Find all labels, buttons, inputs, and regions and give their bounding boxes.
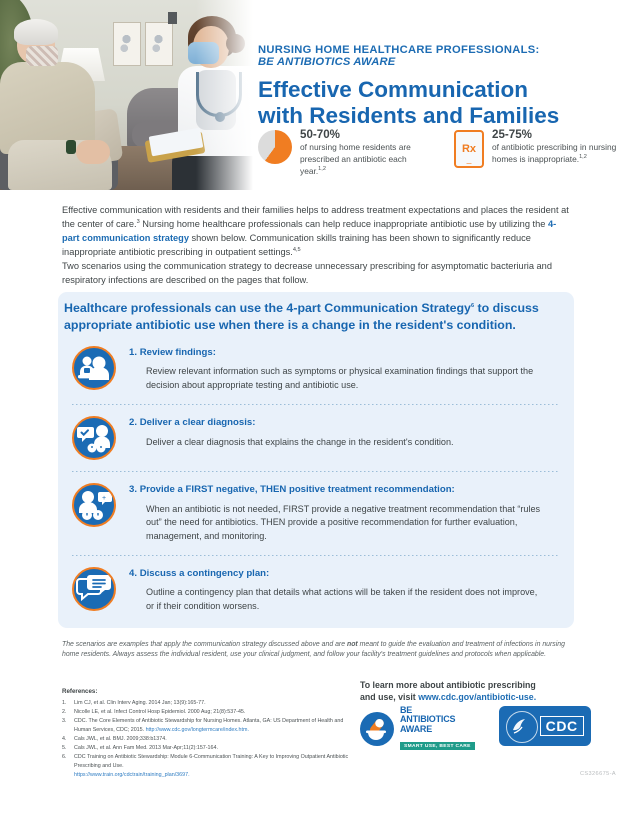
hero-eyebrow-line1: NURSING HOME HEALTHCARE PROFESSIONALS:: [258, 44, 632, 56]
photo-wall-sconce: [168, 12, 177, 24]
page-title: Effective Communication with Residents a…: [258, 77, 632, 129]
step-title-text: Provide a FIRST negative, THEN positive …: [140, 484, 455, 495]
cdc-logo: CDC: [499, 706, 591, 746]
step-title-text: Discuss a contingency plan:: [140, 568, 270, 579]
reference-item: 5.Cals JWL, et al. Ann Fam Med. 2013 Mar…: [62, 744, 350, 753]
panel-heading: Healthcare professionals can use the 4-p…: [64, 300, 544, 334]
reference-number: 2.: [62, 708, 70, 717]
strategy-step-4-title: 4. Discuss a contingency plan:: [129, 568, 544, 580]
cdc-wordmark: CDC: [540, 716, 584, 736]
step-divider-3: [72, 555, 560, 556]
learn-more-prefix: and use, visit: [360, 692, 418, 702]
stat-card-prescribed: 50-70% of nursing home residents are pre…: [258, 128, 428, 178]
strategy-step-2-body: 2. Deliver a clear diagnosis: Deliver a …: [129, 416, 454, 460]
clinician-with-resident-icon: [72, 346, 116, 390]
stat-description-text: of antibiotic prescribing in nursing hom…: [492, 142, 616, 164]
reference-number: 5.: [62, 744, 70, 753]
chat-bubbles-icon: [72, 567, 116, 611]
baa-tagline: SMART USE, BEST CARE: [400, 742, 475, 750]
strategy-step-4-text: Outline a contingency plan that details …: [129, 586, 544, 614]
reference-item: 2.Nicolle LE, et al. Infect Control Hosp…: [62, 708, 350, 717]
disclaimer-text: The scenarios are examples that apply th…: [62, 640, 570, 661]
photo-fade-overlay: [196, 0, 258, 190]
stat-superscript: 1,2: [318, 167, 326, 173]
reference-link[interactable]: https://www.train.org/cdctrain/training_…: [74, 772, 190, 778]
reference-text-body: CDC Training on Antibiotic Stewardship: …: [74, 754, 348, 769]
step-title-text: Deliver a clear diagnosis:: [140, 417, 256, 428]
learn-more-line2: and use, visit www.cdc.gov/antibiotic-us…: [360, 691, 600, 703]
strategy-step-3-text: When an antibiotic is not needed, FIRST …: [129, 503, 544, 544]
disclaimer-part1: The scenarios are examples that apply th…: [62, 641, 347, 648]
strategy-step-3-body: 3. Provide a FIRST negative, THEN positi…: [129, 483, 544, 544]
stat-description-text: of nursing home residents are prescribed…: [300, 142, 411, 176]
para1-part2: Nursing home healthcare professionals ca…: [140, 219, 548, 229]
learn-more-block: To learn more about antibiotic prescribi…: [360, 679, 600, 704]
step-number: 4.: [129, 568, 137, 579]
reference-text: Nicolle LE, et al. Infect Control Hosp E…: [74, 708, 245, 717]
panel-heading-part1: Healthcare professionals can use the 4-p…: [64, 301, 324, 315]
rx-tablet-icon: Rx: [454, 130, 484, 168]
stat-value: 25-75%: [492, 128, 620, 142]
hero-photo: [0, 0, 258, 190]
strategy-step-1-text: Review relevant information such as symp…: [129, 365, 544, 393]
be-antibiotics-aware-wordmark: BE ANTIBIOTICS AWARE SMART USE, BEST CAR…: [400, 706, 475, 752]
strategy-step-4: 4. Discuss a contingency plan: Outline a…: [58, 561, 574, 620]
disclaimer-bold: not: [347, 641, 358, 648]
learn-more-line1: To learn more about antibiotic prescribi…: [360, 679, 600, 691]
photo-resident-watch: [66, 140, 76, 154]
stat-text-inappropriate: 25-75% of antibiotic prescribing in nurs…: [492, 128, 620, 166]
references-heading: References:: [62, 688, 97, 695]
hero-eyebrow-line2: BE ANTIBIOTICS AWARE: [258, 56, 632, 68]
step-number: 2.: [129, 417, 137, 428]
reference-link[interactable]: http://www.cdc.gov/longtermcare/index.ht…: [146, 727, 249, 733]
footer-logos: BE ANTIBIOTICS AWARE SMART USE, BEST CAR…: [360, 706, 591, 752]
page-title-line2: with Residents and Families: [258, 103, 632, 129]
baa-line3: AWARE: [400, 725, 475, 734]
reference-item: 3.CDC. The Core Elements of Antibiotic S…: [62, 717, 350, 734]
photo-wall-frame-left: [113, 22, 141, 66]
document-code: CS326675-A: [580, 771, 616, 777]
reference-text: Cals JWL, et al. Ann Fam Med. 2013 Mar-A…: [74, 744, 218, 753]
reference-item: 1.Lim CJ, et al. Clin Interv Aging. 2014…: [62, 699, 350, 708]
reference-item: 4.Cals JWL, et al. BMJ. 2009;338:b1374.: [62, 735, 350, 744]
strategy-step-4-body: 4. Discuss a contingency plan: Outline a…: [129, 567, 544, 614]
stat-text-prescribed: 50-70% of nursing home residents are pre…: [300, 128, 428, 178]
stat-card-inappropriate: Rx 25-75% of antibiotic prescribing in n…: [450, 128, 620, 178]
photo-resident-hair: [14, 19, 58, 45]
stat-value: 50-70%: [300, 128, 428, 142]
stat-description: of antibiotic prescribing in nursing hom…: [492, 142, 620, 166]
reference-number: 3.: [62, 717, 70, 734]
stat-description: of nursing home residents are prescribed…: [300, 142, 428, 178]
step-number: 1.: [129, 347, 137, 358]
step-divider-2: [72, 471, 560, 472]
strategy-steps-list: 1. Review findings: Review relevant info…: [58, 340, 574, 620]
step-number: 3.: [129, 484, 137, 495]
strategy-step-3: + 3. Provide a FIRST negative, THEN posi…: [58, 477, 574, 550]
references-list: 1.Lim CJ, et al. Clin Interv Aging. 2014…: [62, 699, 350, 780]
strategy-step-1-body: 1. Review findings: Review relevant info…: [129, 346, 544, 393]
strategy-step-2: 2. Deliver a clear diagnosis: Deliver a …: [58, 410, 574, 466]
strategy-step-2-title: 2. Deliver a clear diagnosis:: [129, 417, 454, 429]
photo-resident-face-mask: [26, 46, 58, 66]
cdc-website-link[interactable]: www.cdc.gov/antibiotic-use.: [418, 692, 536, 702]
strategy-step-1-title: 1. Review findings:: [129, 347, 544, 359]
panel-heading-bold: Communication Strategy: [324, 301, 471, 315]
intro-paragraph-2: Two scenarios using the communication st…: [62, 259, 570, 287]
photo-wall-frame-right: [145, 22, 173, 66]
page-title-line1: Effective Communication: [258, 77, 632, 103]
statistics-row: 50-70% of nursing home residents are pre…: [258, 128, 620, 178]
strategy-step-2-text: Deliver a clear diagnosis that explains …: [129, 436, 454, 450]
photo-resident-hands: [76, 140, 110, 164]
reference-text: Cals JWL, et al. BMJ. 2009;338:b1374.: [74, 735, 167, 744]
hhs-seal-icon: [506, 711, 538, 743]
reference-number: 1.: [62, 699, 70, 708]
be-antibiotics-aware-logo: BE ANTIBIOTICS AWARE SMART USE, BEST CAR…: [360, 706, 475, 752]
strategy-step-3-title: 3. Provide a FIRST negative, THEN positi…: [129, 484, 544, 496]
step-divider-1: [72, 404, 560, 405]
reference-text: Lim CJ, et al. Clin Interv Aging. 2014 J…: [74, 699, 206, 708]
hero-section: NURSING HOME HEALTHCARE PROFESSIONALS: B…: [0, 0, 632, 190]
reference-number: 4.: [62, 735, 70, 744]
para1-superscript-2: 4,5: [293, 247, 301, 253]
strategy-step-1: 1. Review findings: Review relevant info…: [58, 340, 574, 399]
reference-number: 6.: [62, 753, 70, 779]
reference-text: CDC Training on Antibiotic Stewardship: …: [74, 753, 350, 779]
intro-paragraph-1: Effective communication with residents a…: [62, 203, 570, 259]
pill-and-mortar-icon: [360, 712, 394, 746]
reference-item: 6.CDC Training on Antibiotic Stewardship…: [62, 753, 350, 779]
two-people-discussion-icon: +: [72, 483, 116, 527]
step-title-text: Review findings:: [140, 347, 216, 358]
reference-text: CDC. The Core Elements of Antibiotic Ste…: [74, 717, 350, 734]
speech-bubble-clinician-icon: [72, 416, 116, 460]
pie-chart-icon: [258, 130, 292, 164]
svg-text:+: +: [102, 495, 106, 502]
stat-superscript: 1,2: [579, 155, 587, 161]
